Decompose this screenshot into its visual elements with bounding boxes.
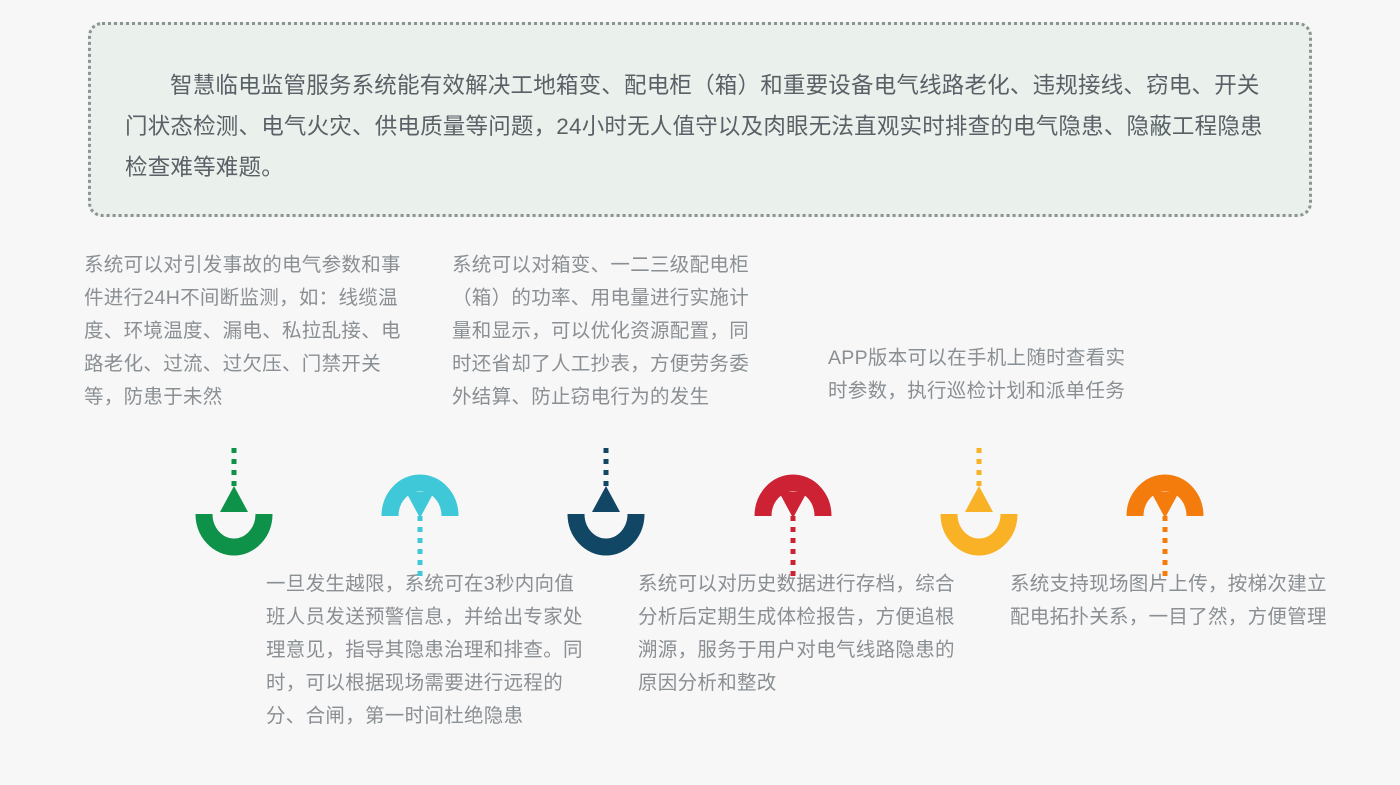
marker-cyan [372, 440, 468, 590]
marker-yellow [931, 440, 1027, 590]
note-alarm: 一旦发生越限，系统可在3秒内向值班人员发送预警信息，并给出专家处理意见，指导其隐… [266, 568, 586, 733]
note-app: APP版本可以在手机上随时查看实时参数，执行巡检计划和派单任务 [828, 342, 1140, 408]
marker-navy [558, 440, 654, 590]
marker-orange [1117, 440, 1213, 590]
arc-pointer-up-icon [186, 440, 282, 590]
intro-callout-box: 智慧临电监管服务系统能有效解决工地箱变、配电柜（箱）和重要设备电气线路老化、违规… [88, 22, 1312, 217]
marker-red [745, 440, 841, 590]
note-monitoring: 系统可以对引发事故的电气参数和事件进行24H不间断监测，如：线缆温度、环境温度、… [84, 249, 404, 414]
arc-pointer-down-icon [372, 440, 468, 590]
infographic-canvas: 智慧临电监管服务系统能有效解决工地箱变、配电柜（箱）和重要设备电气线路老化、违规… [0, 0, 1400, 785]
arc-pointer-down-icon [1117, 440, 1213, 590]
arc-pointer-up-icon [931, 440, 1027, 590]
marker-green [186, 440, 282, 590]
note-metering: 系统可以对箱变、一二三级配电柜（箱）的功率、用电量进行实施计量和显示，可以优化资… [452, 249, 764, 414]
intro-paragraph: 智慧临电监管服务系统能有效解决工地箱变、配电柜（箱）和重要设备电气线路老化、违规… [125, 65, 1275, 188]
arc-pointer-up-icon [558, 440, 654, 590]
arc-pointer-down-icon [745, 440, 841, 590]
